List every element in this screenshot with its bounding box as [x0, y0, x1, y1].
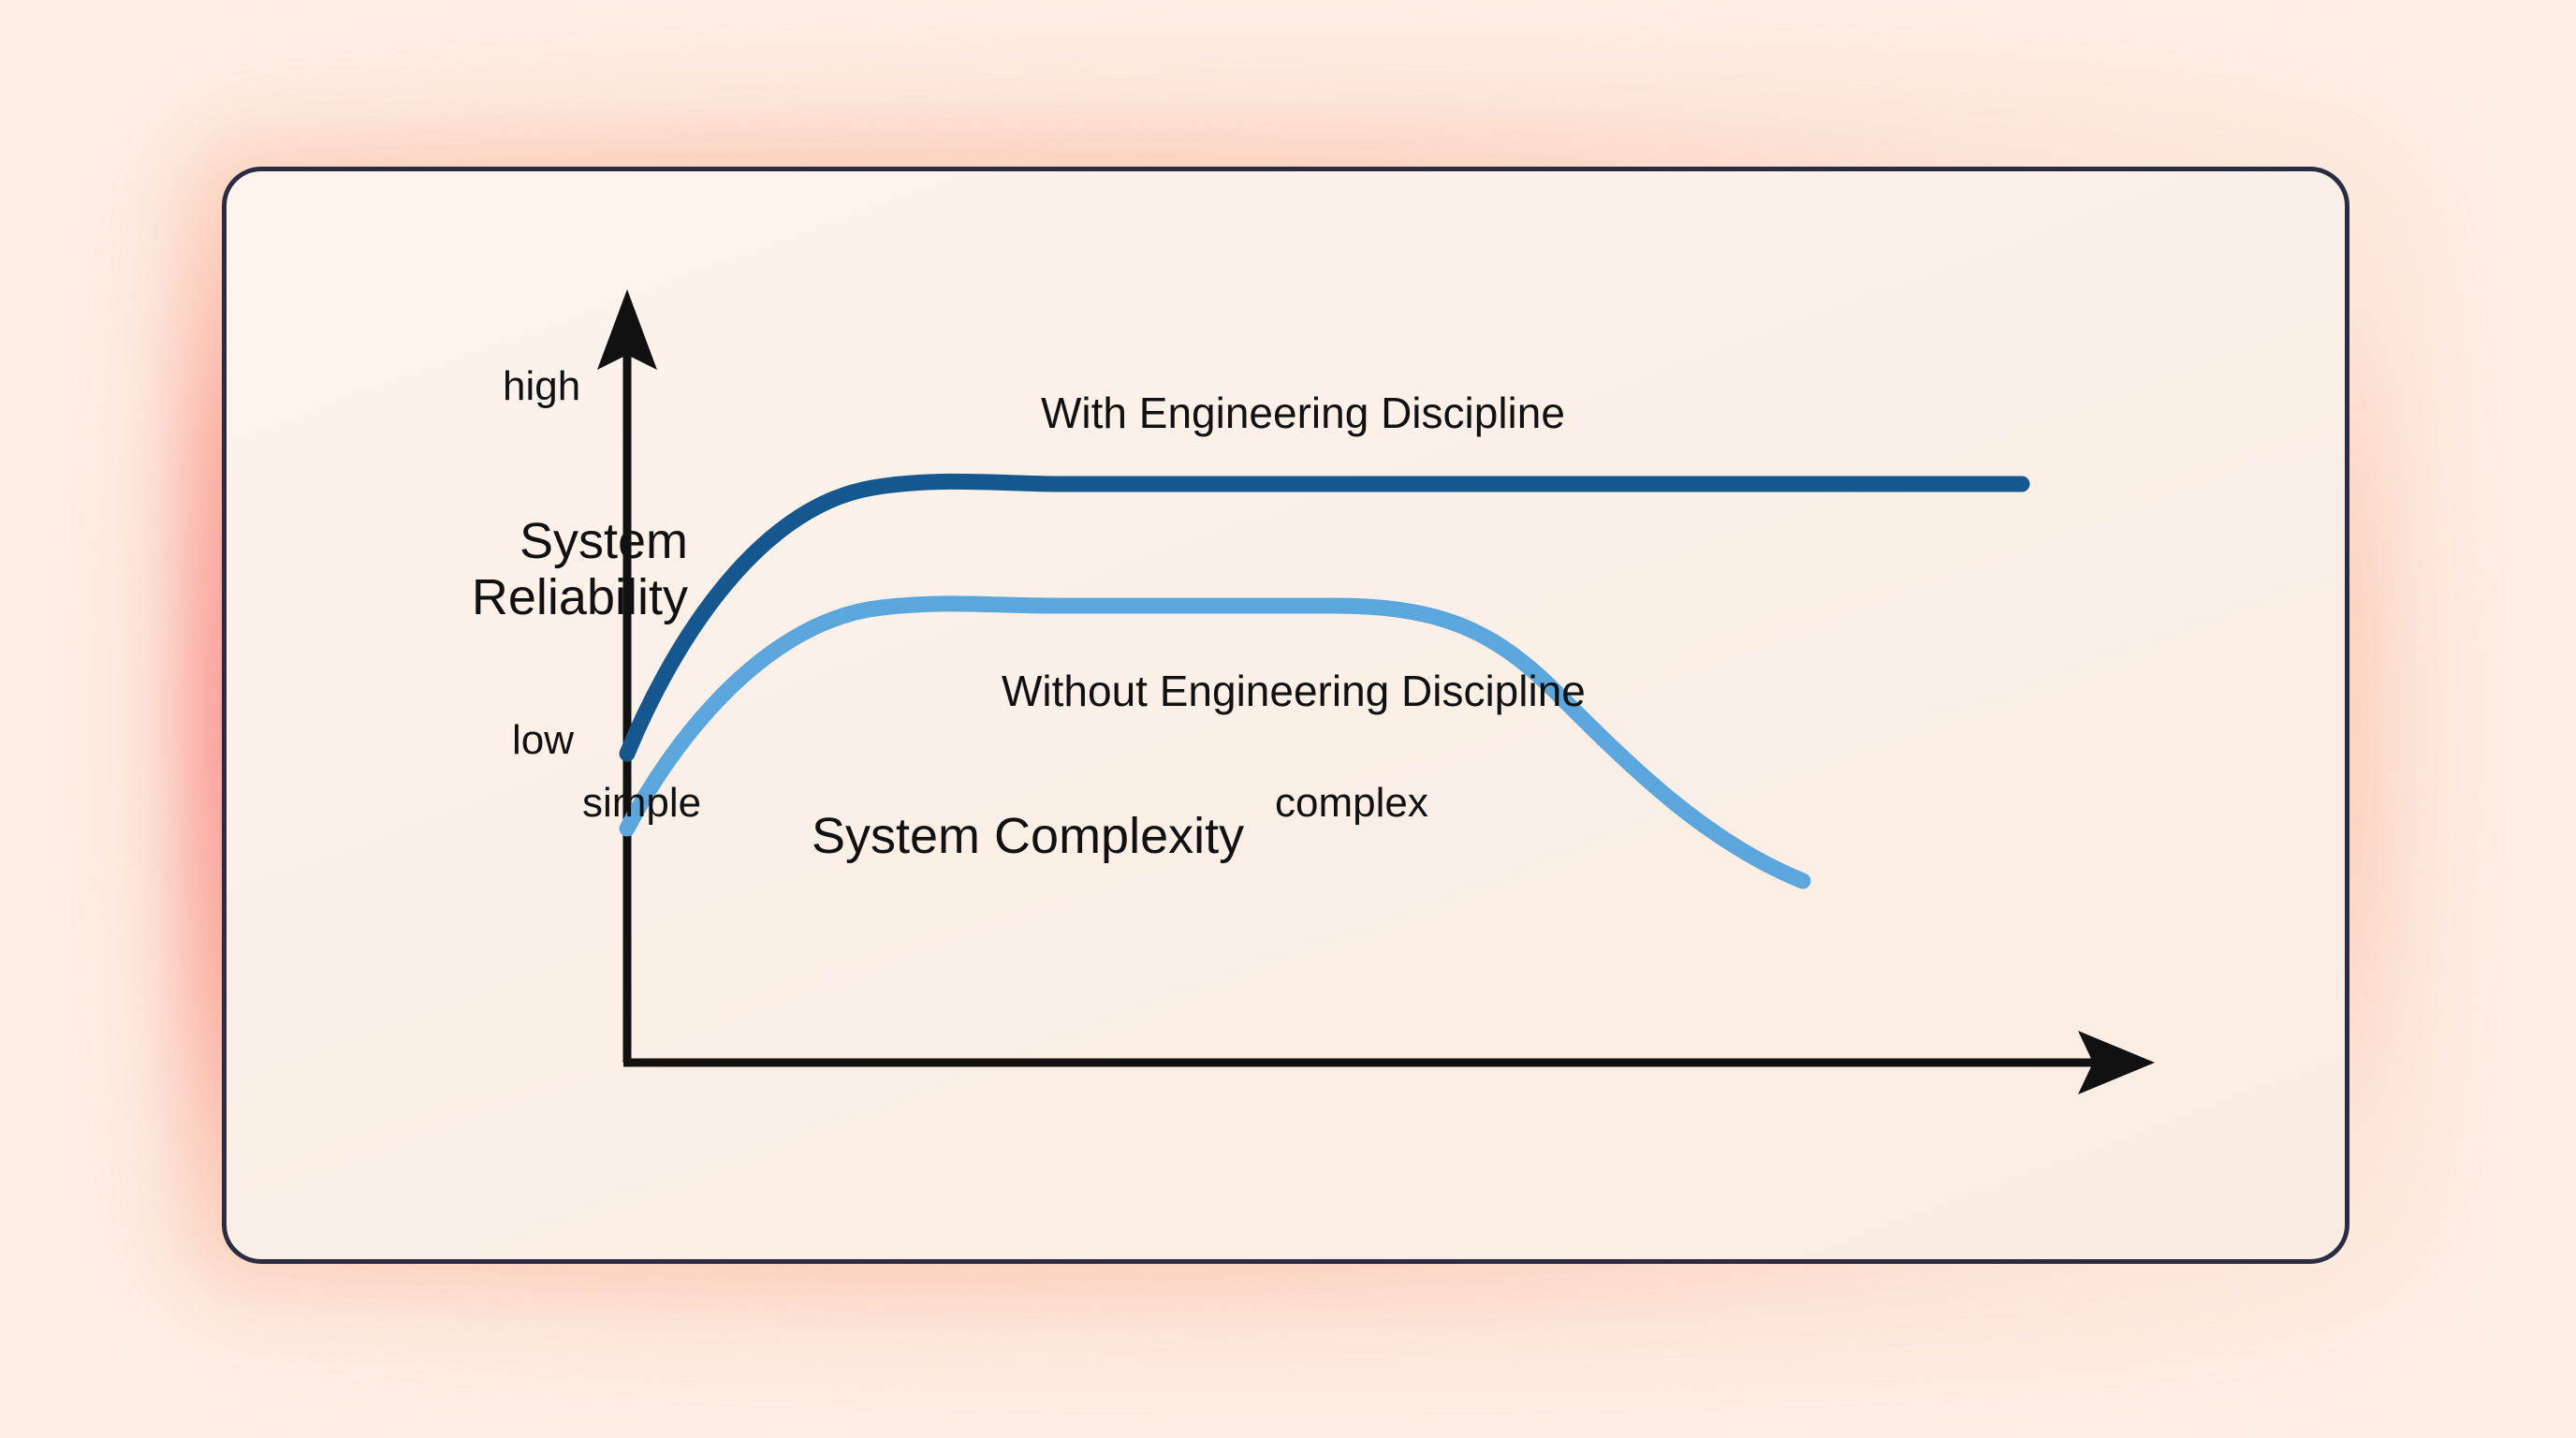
y-axis-title-line-1: System	[398, 513, 688, 569]
diagram-card: high low System Reliability simple compl…	[222, 167, 2349, 1264]
series-label-without-engineering-discipline: Without Engineering Discipline	[1002, 668, 1586, 716]
x-axis-complex-label: complex	[1275, 780, 1428, 826]
x-axis-simple-label: simple	[582, 780, 701, 826]
x-axis	[623, 1031, 2155, 1094]
y-axis-low-label: low	[512, 717, 574, 763]
y-axis	[597, 289, 657, 1063]
series-label-with-engineering-discipline: With Engineering Discipline	[1041, 389, 1565, 438]
y-axis-high-label: high	[503, 363, 580, 409]
x-axis-title: System Complexity	[812, 808, 1244, 864]
y-axis-title-line-2: Reliability	[398, 569, 688, 625]
y-axis-title: System Reliability	[398, 513, 688, 626]
